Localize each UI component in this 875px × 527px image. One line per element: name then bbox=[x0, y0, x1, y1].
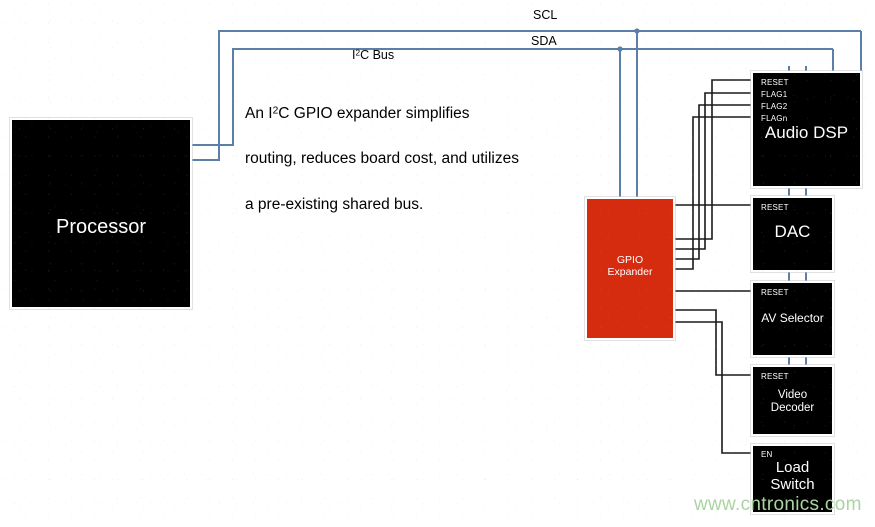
annotation-line1-post: C GPIO expander simplifies bbox=[278, 105, 469, 122]
block-video-decoder[interactable]: RESET Video Decoder bbox=[751, 365, 834, 436]
junction-sda bbox=[617, 46, 622, 51]
wire-dsp-flag1 bbox=[675, 93, 751, 249]
annotation-line1-pre: An I bbox=[245, 105, 273, 122]
block-audio-dsp-label: Audio DSP bbox=[753, 123, 860, 142]
label-i2c-bus: I2C Bus bbox=[352, 34, 394, 62]
pin-label-flag2: FLAG2 bbox=[761, 102, 787, 111]
wire-load-en bbox=[675, 322, 751, 453]
block-processor[interactable]: Processor bbox=[10, 118, 192, 309]
wire-video-reset bbox=[675, 310, 751, 375]
label-scl: SCL bbox=[533, 8, 557, 22]
block-gpio-expander-label: GPIO Expander bbox=[587, 255, 673, 279]
annotation-line3: a pre-existing shared bus. bbox=[245, 196, 423, 213]
superscript-2: 2 bbox=[355, 48, 360, 57]
label-i2c-bus-text: I2C Bus bbox=[352, 48, 394, 62]
block-av-selector-label: AV Selector bbox=[753, 312, 832, 325]
pin-label-en: EN bbox=[761, 450, 773, 459]
block-dac[interactable]: RESET DAC bbox=[751, 196, 834, 272]
diagram-canvas: Processor GPIO Expander RESET FLAG1 FLAG… bbox=[0, 0, 875, 527]
block-video-decoder-label: Video Decoder bbox=[753, 389, 832, 415]
block-load-switch-label: Load Switch bbox=[753, 460, 832, 494]
pin-label-reset: RESET bbox=[761, 288, 789, 297]
block-av-selector[interactable]: RESET AV Selector bbox=[751, 281, 834, 357]
block-dac-label: DAC bbox=[753, 222, 832, 241]
watermark: www.cntronics.com bbox=[694, 494, 862, 516]
pin-label-flag1: FLAG1 bbox=[761, 90, 787, 99]
wire-dsp-reset bbox=[675, 80, 751, 239]
label-sda: SDA bbox=[531, 34, 557, 48]
block-processor-label: Processor bbox=[12, 216, 190, 238]
pin-label-flagn: FLAGn bbox=[761, 114, 787, 123]
block-audio-dsp[interactable]: RESET FLAG1 FLAG2 FLAGn Audio DSP bbox=[751, 71, 862, 188]
wire-dsp-flag2 bbox=[675, 105, 751, 259]
pin-label-reset: RESET bbox=[761, 78, 789, 87]
annotation-line2: routing, reduces board cost, and utilize… bbox=[245, 150, 519, 167]
gpio-control-wires bbox=[675, 80, 751, 453]
wire-dsp-flagn bbox=[675, 117, 751, 269]
bus-junction-dots bbox=[617, 28, 639, 51]
pin-label-reset: RESET bbox=[761, 372, 789, 381]
block-gpio-expander[interactable]: GPIO Expander bbox=[585, 197, 675, 340]
junction-scl bbox=[634, 28, 639, 33]
pin-label-reset: RESET bbox=[761, 203, 789, 212]
annotation-text: An I2C GPIO expander simplifies routing,… bbox=[245, 80, 585, 217]
